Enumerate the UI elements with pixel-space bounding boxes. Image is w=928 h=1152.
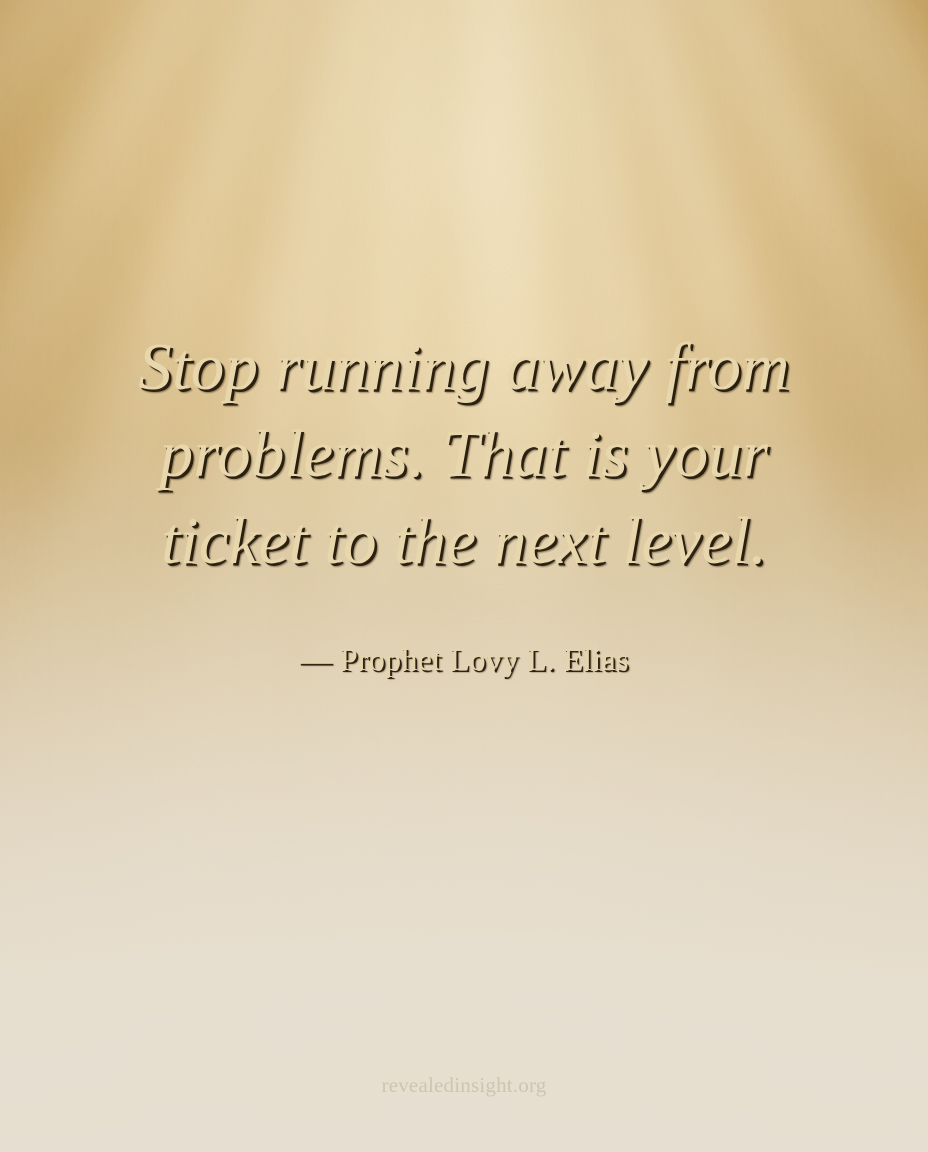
card-content: Stop running away from problems. That is… <box>0 0 928 1152</box>
quote-line: Stop running away from <box>114 324 814 411</box>
quote-line: ticket to the next level. <box>114 498 814 585</box>
quote-text: Stop running away from problems. That is… <box>114 324 814 585</box>
quote-attribution: — Prophet Lovy L. Elias <box>299 639 629 679</box>
quote-line: problems. That is your <box>114 411 814 498</box>
quote-card: Stop running away from problems. That is… <box>0 0 928 1152</box>
site-watermark: revealedinsight.org <box>0 1073 928 1098</box>
